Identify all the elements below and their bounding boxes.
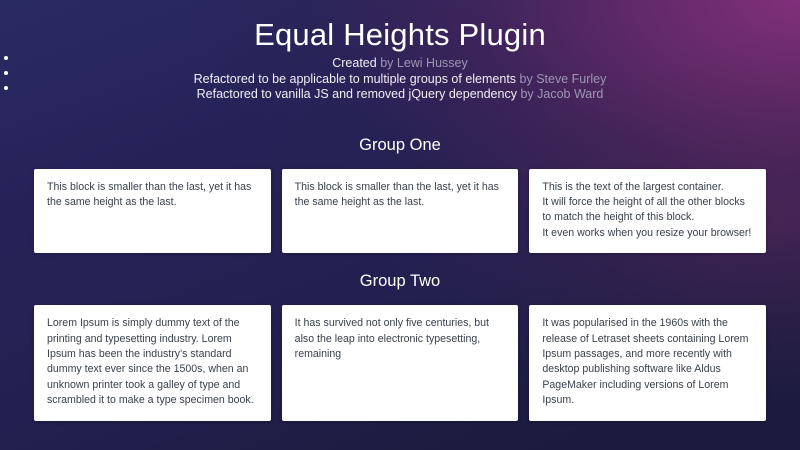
credit-author: by Steve Furley [520, 72, 607, 86]
credit-author: by Jacob Ward [520, 87, 603, 101]
page-root: { "header": { "title": "Equal Heights Pl… [0, 0, 800, 450]
group-two-heading: Group Two [34, 271, 766, 291]
edge-bullet-list [0, 56, 8, 101]
group-one-row: This block is smaller than the last, yet… [34, 169, 766, 254]
equal-height-card: This is the text of the largest containe… [529, 169, 766, 254]
card-text: It was popularised in the 1960s with the… [542, 316, 753, 408]
bullet-icon [4, 56, 8, 60]
credit-author: by Lewi Hussey [380, 56, 468, 70]
bullet-icon [4, 71, 8, 75]
credit-line: Created by Lewi Hussey [0, 56, 800, 72]
equal-height-card: It has survived not only five centuries,… [282, 305, 519, 420]
page-header: Equal Heights Plugin Created by Lewi Hus… [0, 0, 800, 103]
card-text: It has survived not only five centuries,… [295, 316, 506, 362]
group-two-section: Group Two Lorem Ipsum is simply dummy te… [0, 271, 800, 420]
card-text: This is the text of the largest containe… [542, 180, 753, 242]
credit-line: Refactored to be applicable to multiple … [0, 72, 800, 88]
credit-line: Refactored to vanilla JS and removed jQu… [0, 87, 800, 103]
card-text: This block is smaller than the last, yet… [47, 180, 258, 211]
equal-height-card: This block is smaller than the last, yet… [34, 169, 271, 254]
group-one-heading: Group One [34, 135, 766, 155]
bullet-icon [4, 86, 8, 90]
credit-text: Created [332, 56, 376, 70]
card-text: This block is smaller than the last, yet… [295, 180, 506, 211]
card-text: Lorem Ipsum is simply dummy text of the … [47, 316, 258, 408]
credits-block: Created by Lewi Hussey Refactored to be … [0, 56, 800, 103]
page-title: Equal Heights Plugin [0, 16, 800, 54]
equal-height-card: It was popularised in the 1960s with the… [529, 305, 766, 420]
credit-text: Refactored to be applicable to multiple … [194, 72, 516, 86]
group-two-row: Lorem Ipsum is simply dummy text of the … [34, 305, 766, 420]
group-one-section: Group One This block is smaller than the… [0, 135, 800, 254]
equal-height-card: Lorem Ipsum is simply dummy text of the … [34, 305, 271, 420]
equal-height-card: This block is smaller than the last, yet… [282, 169, 519, 254]
credit-text: Refactored to vanilla JS and removed jQu… [197, 87, 517, 101]
